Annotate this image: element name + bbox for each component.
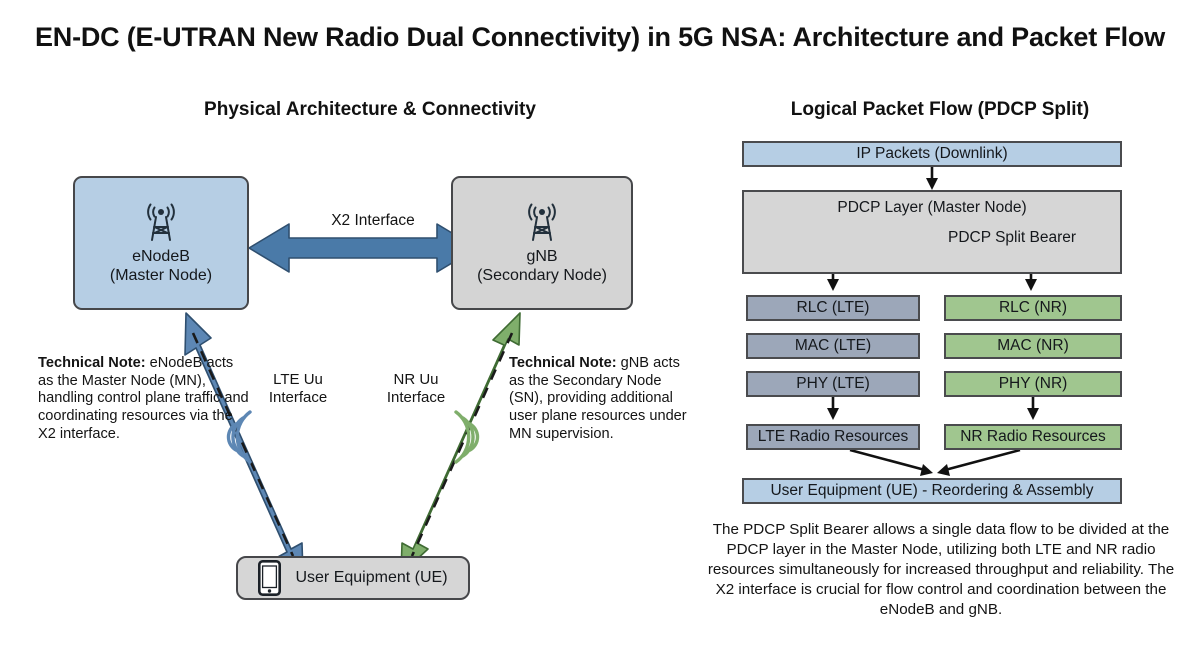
technical-note-gnb-heading: Technical Note: <box>509 355 617 371</box>
lte-uu-interface-label: LTE Uu Interface <box>252 371 344 408</box>
user-equipment-node[interactable]: User Equipment (UE) <box>236 556 470 600</box>
cell-tower-icon <box>520 201 564 243</box>
diagram-canvas: EN-DC (E-UTRAN New Radio Dual Connectivi… <box>0 0 1200 670</box>
enodeb-label-line2: (Master Node) <box>110 267 212 286</box>
nr-uu-interface-label: NR Uu Interface <box>370 371 462 408</box>
smartphone-icon <box>258 560 281 596</box>
pdcp-explanation-paragraph: The PDCP Split Bearer allows a single da… <box>706 520 1176 620</box>
ip-packets-box[interactable]: IP Packets (Downlink) <box>742 141 1122 167</box>
x2-interface-label: X2 Interface <box>288 212 458 230</box>
nr-uu-line1: NR Uu <box>370 371 462 389</box>
ue-reordering-box[interactable]: User Equipment (UE) - Reordering & Assem… <box>742 478 1122 504</box>
left-panel-title: Physical Architecture & Connectivity <box>60 99 680 121</box>
right-panel-title: Logical Packet Flow (PDCP Split) <box>700 99 1180 121</box>
gnb-label-line2: (Secondary Node) <box>477 267 607 286</box>
user-equipment-label: User Equipment (UE) <box>295 569 447 588</box>
gnb-label-line1: gNB <box>526 248 557 267</box>
cell-tower-icon <box>139 201 183 243</box>
lte-uu-arrow <box>185 313 303 574</box>
technical-note-gnb: Technical Note: gNB acts as the Secondar… <box>509 355 695 443</box>
gnb-secondary-node[interactable]: gNB (Secondary Node) <box>451 176 633 310</box>
technical-note-enodeb-heading: Technical Note: <box>38 355 146 371</box>
lte-radio-resources-box[interactable]: LTE Radio Resources <box>746 424 920 450</box>
x2-interface-arrow <box>249 224 477 272</box>
lte-uu-line1: LTE Uu <box>252 371 344 389</box>
page-title: EN-DC (E-UTRAN New Radio Dual Connectivi… <box>0 22 1200 53</box>
signal-waves-nr-icon <box>456 412 478 462</box>
rlc-lte-box[interactable]: RLC (LTE) <box>746 295 920 321</box>
nr-uu-arrow <box>401 313 520 574</box>
mac-lte-box[interactable]: MAC (LTE) <box>746 333 920 359</box>
phy-nr-box[interactable]: PHY (NR) <box>944 371 1122 397</box>
nr-radio-resources-box[interactable]: NR Radio Resources <box>944 424 1122 450</box>
phy-lte-box[interactable]: PHY (LTE) <box>746 371 920 397</box>
rlc-nr-box[interactable]: RLC (NR) <box>944 295 1122 321</box>
lte-uu-line2: Interface <box>252 389 344 407</box>
nr-uu-line2: Interface <box>370 389 462 407</box>
technical-note-enodeb: Technical Note: eNodeB acts as the Maste… <box>38 355 250 443</box>
enodeb-master-node[interactable]: eNodeB (Master Node) <box>73 176 249 310</box>
mac-nr-box[interactable]: MAC (NR) <box>944 333 1122 359</box>
pdcp-split-bearer-label: PDCP Split Bearer <box>948 229 1076 247</box>
enodeb-label-line1: eNodeB <box>132 248 190 267</box>
